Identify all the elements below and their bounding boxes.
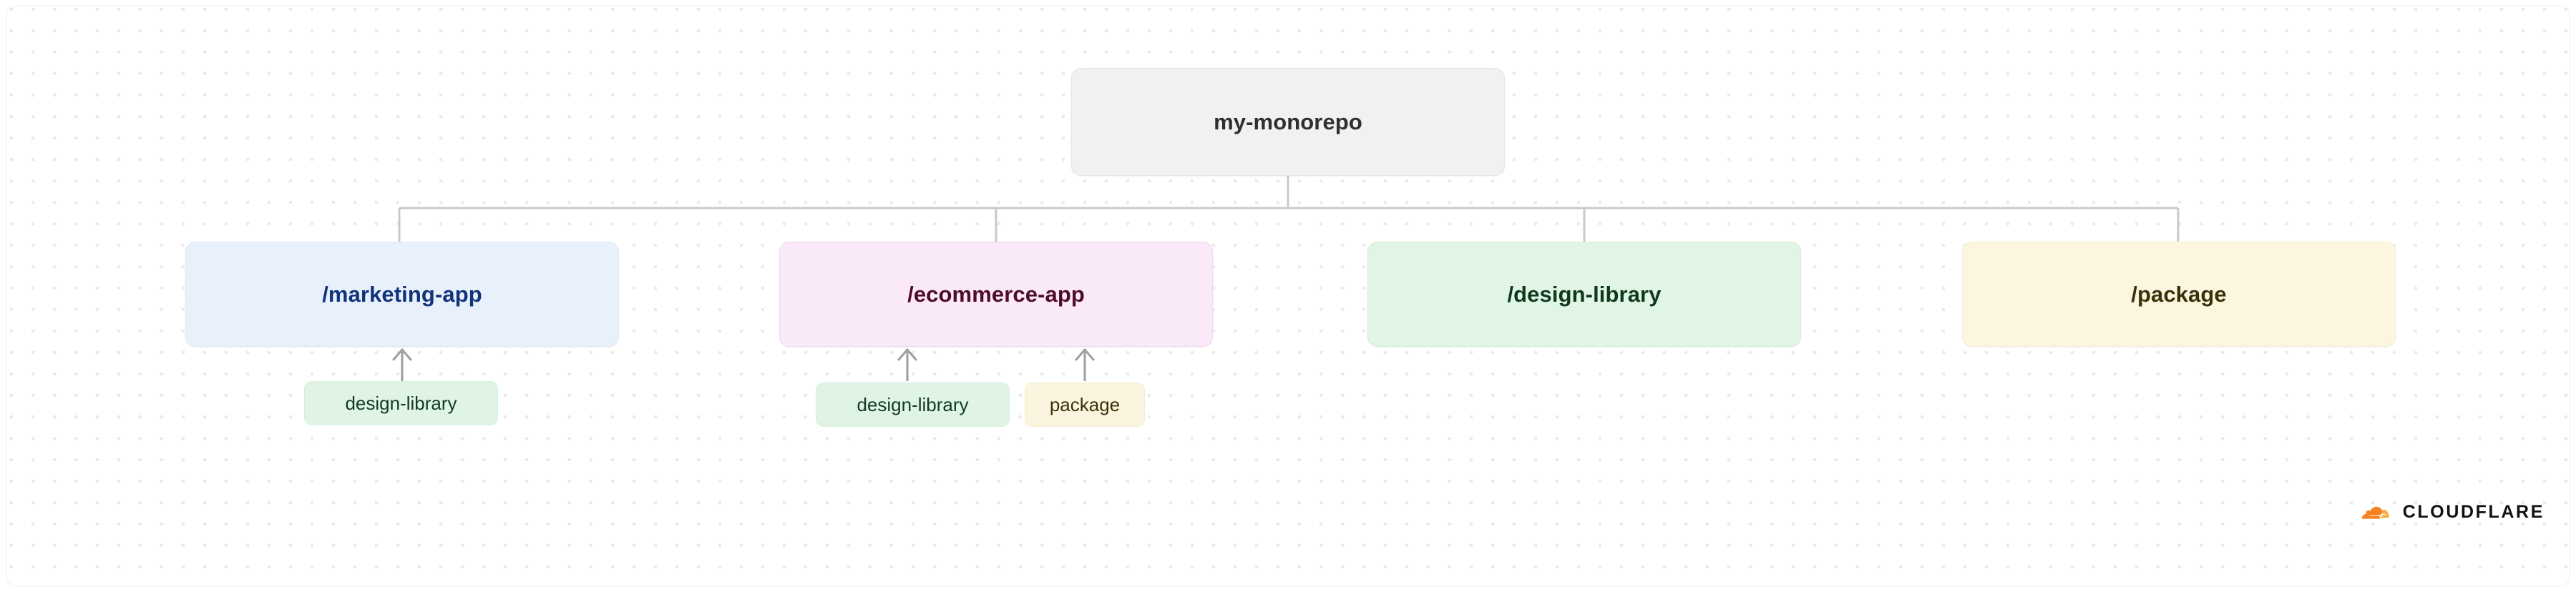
node-marketing-app-label: /marketing-app [322,282,482,307]
node-package-label: /package [2131,282,2227,307]
arrow-head-ecommerce-design-library [899,350,916,360]
node-ecommerce-app-label: /ecommerce-app [907,282,1085,307]
dependency-chip-label: design-library [345,393,457,415]
node-package[interactable]: /package [1962,242,2396,347]
node-ecommerce-app[interactable]: /ecommerce-app [779,242,1213,347]
cloudflare-cloud-icon [2357,498,2393,526]
dependency-chip-ecommerce-design-library[interactable]: design-library [816,383,1010,427]
dependency-chip-label: package [1050,394,1120,416]
arrow-head-ecommerce-package [1076,350,1093,360]
cloudflare-logo: CLOUDFLARE [2357,492,2545,532]
node-root[interactable]: my-monorepo [1071,68,1505,176]
arrow-head-marketing-design-library [394,350,411,360]
dependency-chip-marketing-design-library[interactable]: design-library [304,381,498,425]
node-design-library-label: /design-library [1507,282,1661,307]
node-design-library[interactable]: /design-library [1367,242,1801,347]
dependency-chip-ecommerce-package[interactable]: package [1025,383,1145,427]
node-marketing-app[interactable]: /marketing-app [185,242,619,347]
cloudflare-wordmark: CLOUDFLARE [2403,503,2545,521]
diagram-canvas: my-monorepo /marketing-app /ecommerce-ap… [0,0,2576,592]
dependency-chip-label: design-library [857,394,968,416]
node-root-label: my-monorepo [1214,109,1362,135]
